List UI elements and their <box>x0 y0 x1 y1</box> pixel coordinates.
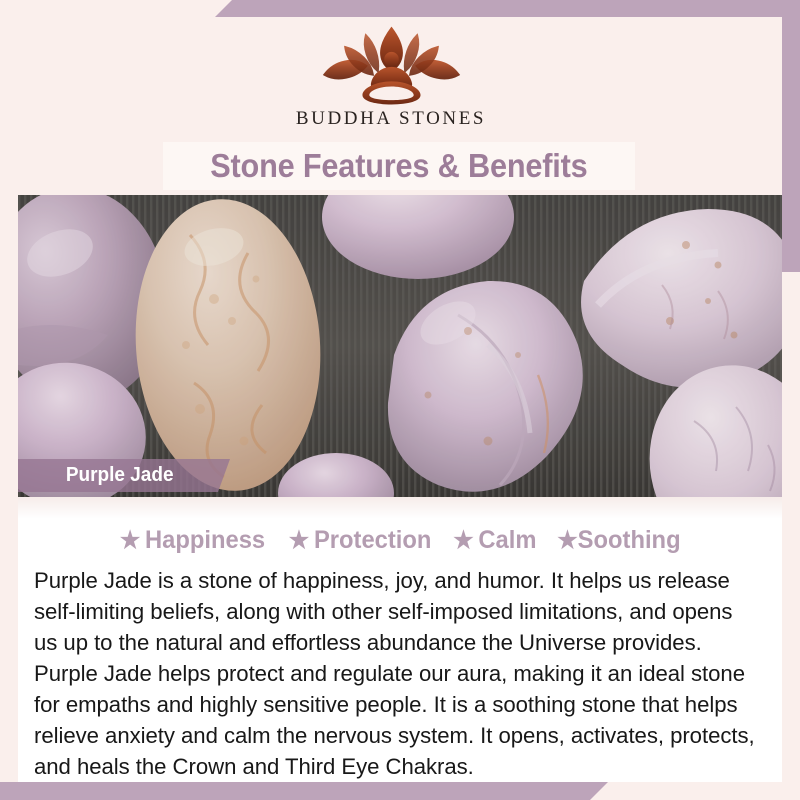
benefit-item-protection: ★ Protection <box>288 526 431 555</box>
benefits-list: ★ Happiness ★ Protection ★ Calm ★ Soothi… <box>18 519 782 561</box>
star-icon: ★ <box>288 526 308 555</box>
stone-name-text: Purple Jade <box>66 464 174 487</box>
page-inner: BUDDHA STONES Stone Features & Benefits <box>0 17 782 782</box>
benefit-item-happiness: ★ Happiness <box>120 526 265 555</box>
benefit-item-calm: ★ Calm <box>453 526 536 555</box>
description-block: Purple Jade is a stone of happiness, joy… <box>34 565 768 782</box>
lotus-meditation-figure-icon <box>304 25 479 107</box>
section-title-banner: Stone Features & Benefits <box>163 142 635 190</box>
decoration-top-right-band <box>215 0 800 17</box>
stones-illustration <box>18 195 782 497</box>
brand-logo: BUDDHA STONES <box>0 17 782 142</box>
benefit-label: Calm <box>478 526 536 555</box>
benefit-label: Protection <box>314 526 431 555</box>
stone-name-label: Purple Jade <box>18 459 230 492</box>
description-paragraph-2: Purple Jade helps protect and regulate o… <box>34 658 757 782</box>
star-icon: ★ <box>453 526 473 555</box>
brand-wordmark: BUDDHA STONES <box>296 108 486 130</box>
description-paragraph-1: Purple Jade is a stone of happiness, joy… <box>34 565 757 658</box>
benefit-label: Happiness <box>145 526 265 555</box>
purple-jade-stones-photo <box>18 195 782 497</box>
decoration-right-band <box>782 17 800 272</box>
benefit-label: Soothing <box>578 526 681 555</box>
star-icon: ★ <box>558 526 578 555</box>
star-icon: ★ <box>120 526 140 555</box>
page-title: Stone Features & Benefits <box>210 147 587 185</box>
content-top-fade <box>18 497 782 519</box>
content-panel: ★ Happiness ★ Protection ★ Calm ★ Soothi… <box>18 497 782 782</box>
benefit-item-soothing: ★ Soothing <box>558 526 681 555</box>
decoration-bottom-band <box>0 782 608 800</box>
